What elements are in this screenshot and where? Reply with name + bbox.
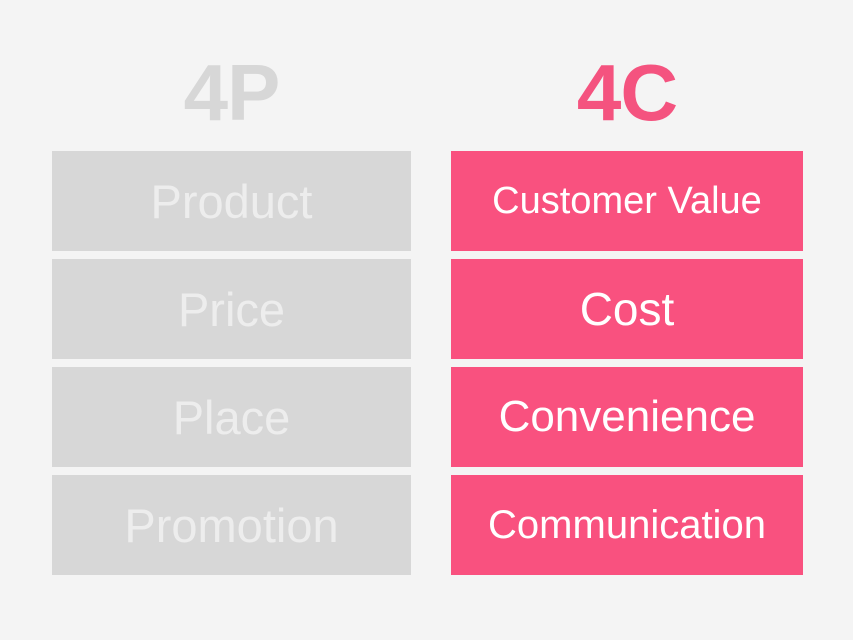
box-cost: Cost bbox=[451, 259, 803, 359]
column-4c: Customer Value Cost Convenience Communic… bbox=[451, 151, 803, 575]
column-heading-4c: 4C bbox=[451, 52, 803, 134]
box-place: Place bbox=[52, 367, 411, 467]
box-label-price: Price bbox=[178, 286, 285, 333]
box-label-product: Product bbox=[151, 178, 313, 225]
box-label-cost: Cost bbox=[580, 286, 675, 332]
box-label-promotion: Promotion bbox=[124, 502, 338, 549]
box-label-customer-value: Customer Value bbox=[492, 182, 762, 220]
column-heading-4p: 4P bbox=[52, 52, 411, 134]
slide-canvas: 4P 4C Product Price Place Promotion Cust… bbox=[0, 0, 853, 640]
box-label-place: Place bbox=[173, 394, 291, 441]
column-4p: Product Price Place Promotion bbox=[52, 151, 411, 575]
box-price: Price bbox=[52, 259, 411, 359]
box-convenience: Convenience bbox=[451, 367, 803, 467]
box-promotion: Promotion bbox=[52, 475, 411, 575]
box-product: Product bbox=[52, 151, 411, 251]
box-label-convenience: Convenience bbox=[499, 395, 756, 439]
box-label-communication: Communication bbox=[488, 505, 766, 545]
box-customer-value: Customer Value bbox=[451, 151, 803, 251]
box-communication: Communication bbox=[451, 475, 803, 575]
